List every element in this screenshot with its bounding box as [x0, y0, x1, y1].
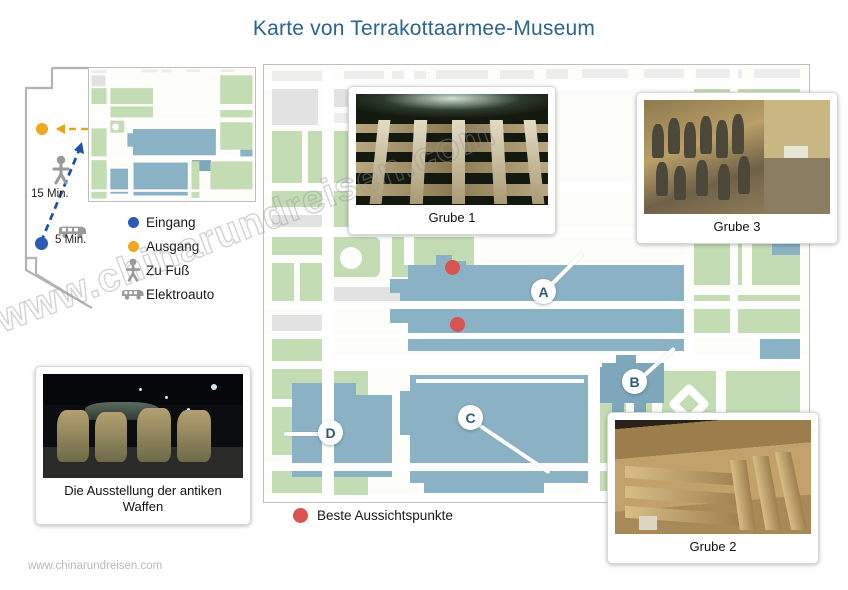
viewpoint-dot-1 [445, 260, 460, 275]
legend-item-elektroauto: Elektroauto [120, 282, 214, 306]
pedestrian-icon [50, 155, 72, 185]
legend-label: Eingang [146, 215, 196, 230]
map-figure: Karte von Terrakottaarmee-Museum [0, 0, 848, 590]
legend-item-eingang: Eingang [120, 210, 214, 234]
photo-waffen [43, 374, 243, 478]
legend-viewpoints: Beste Aussichtspunkte [293, 508, 453, 523]
legend-item-zu-fuss: Zu Fuß [120, 258, 214, 282]
photo-card-waffen[interactable]: Die Ausstellung der antiken Waffen [35, 366, 251, 525]
marker-label: B [629, 374, 639, 390]
orange-dot-icon [120, 241, 146, 252]
photo-caption: Grube 2 [615, 534, 811, 561]
marker-label: D [325, 425, 335, 441]
photo-card-grube1[interactable]: Grube 1 [348, 86, 556, 235]
blue-dot-icon [120, 217, 146, 228]
photo-card-grube2[interactable]: Grube 2 [607, 412, 819, 564]
photo-caption: Grube 3 [644, 214, 830, 241]
legend-label: Beste Aussichtspunkte [317, 508, 453, 523]
viewpoint-dot-2 [450, 317, 465, 332]
photo-caption: Die Ausstellung der antiken Waffen [43, 478, 243, 522]
exit-dot-icon [36, 123, 48, 135]
legend-label: Ausgang [146, 239, 199, 254]
legend-label: Zu Fuß [146, 263, 190, 278]
entrance-dot-icon [35, 237, 48, 250]
electric-car-icon [120, 286, 146, 302]
red-dot-icon [293, 508, 308, 523]
walk-time-label: 15 Min. [31, 188, 69, 200]
legend-item-ausgang: Ausgang [120, 234, 214, 258]
map-marker-b[interactable]: B [622, 369, 647, 394]
map-marker-c[interactable]: C [458, 405, 483, 430]
drive-time-label: 5 Min. [55, 234, 86, 246]
footer-url: www.chinarundreisen.com [28, 560, 162, 572]
map-marker-a[interactable]: A [531, 279, 556, 304]
legend: Eingang Ausgang Zu Fuß [120, 210, 214, 306]
pedestrian-icon [120, 258, 146, 282]
marker-label: A [538, 284, 548, 300]
photo-card-grube3[interactable]: Grube 3 [636, 92, 838, 244]
page-title: Karte von Terrakottaarmee-Museum [0, 17, 848, 41]
legend-label: Elektroauto [146, 287, 214, 302]
photo-grube1 [356, 94, 548, 205]
marker-label: C [465, 410, 475, 426]
photo-grube3 [644, 100, 830, 214]
map-marker-d[interactable]: D [318, 420, 343, 445]
photo-caption: Grube 1 [356, 205, 548, 232]
photo-grube2 [615, 420, 811, 534]
